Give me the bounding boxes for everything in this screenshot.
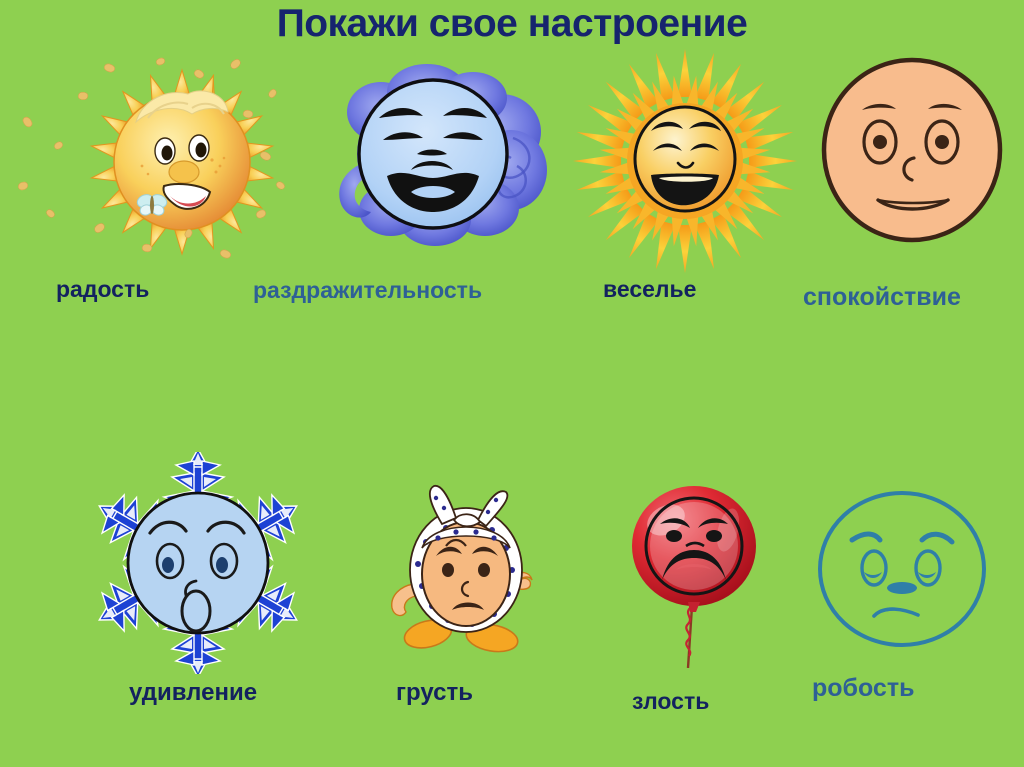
emotion-label-razdrazhitelnost: раздражительность [253,279,482,302]
emotion-label-robost: робость [812,676,914,701]
petal-speck [45,208,56,219]
petal-speck [21,115,33,129]
emotion-label-udivlenie: удивление [129,681,257,705]
timid-outline-face-icon [812,484,992,654]
page-title: Покажи свое настроение [0,2,1024,46]
smiling-sun-with-butterfly-icon [72,62,292,272]
bright-smiling-sun-icon [572,48,798,274]
slide-canvas: Покажи свое настроение [0,0,1024,767]
sad-egg-character-icon [380,472,552,658]
angry-blue-cloud-face-icon [325,58,550,258]
emotion-label-radost: радость [56,278,149,301]
surprised-snowflake-face-icon [86,452,310,674]
emotion-label-zlost: злость [632,690,709,713]
emotion-label-grust: грусть [396,681,473,705]
emotion-label-veselye: веселье [603,278,696,301]
petal-speck [53,140,64,150]
petal-speck [17,181,28,191]
calm-peach-face-icon [818,54,1006,246]
emotion-label-spokoystvie: спокойствие [803,285,961,310]
angry-red-balloon-icon [624,484,774,668]
